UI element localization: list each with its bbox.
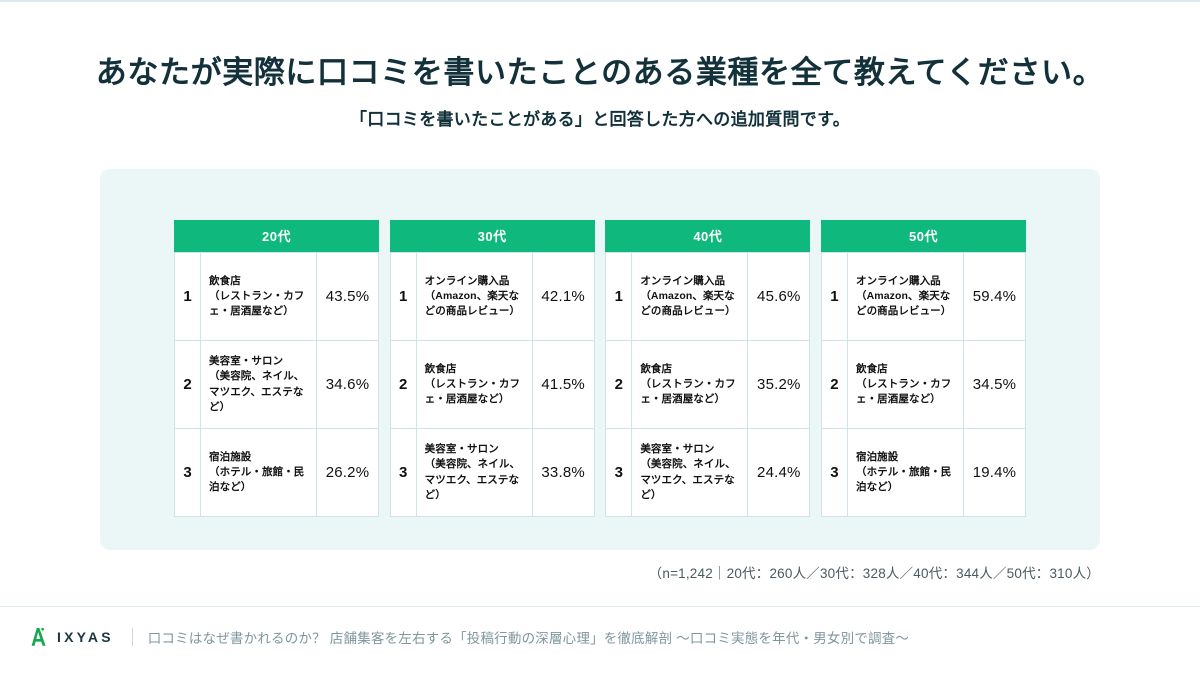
age-group-header: 40代	[605, 220, 810, 252]
age-group-table: 20代1飲食店（レストラン・カフェ・居酒屋など）43.5%2美容室・サロン（美容…	[174, 220, 379, 517]
category-label: 飲食店（レストラン・カフェ・居酒屋など）	[847, 341, 963, 429]
data-panel: 20代1飲食店（レストラン・カフェ・居酒屋など）43.5%2美容室・サロン（美容…	[100, 169, 1100, 550]
table-row: 2飲食店（レストラン・カフェ・居酒屋など）35.2%	[606, 341, 810, 429]
category-label: オンライン購入品（Amazon、楽天などの商品レビュー）	[416, 253, 532, 341]
rank-number: 2	[390, 341, 416, 429]
page-subtitle: 「口コミを書いたことがある」と回答した方への追加質問です。	[0, 105, 1200, 130]
rank-table: 1オンライン購入品（Amazon、楽天などの商品レビュー）59.4%2飲食店（レ…	[821, 252, 1026, 517]
rank-table: 1オンライン購入品（Amazon、楽天などの商品レビュー）42.1%2飲食店（レ…	[390, 252, 595, 517]
sample-size-footnote: （n=1,242｜20代：260人／30代：328人／40代：344人／50代：…	[649, 562, 1100, 582]
table-row: 3宿泊施設（ホテル・旅館・民泊など）19.4%	[821, 429, 1025, 517]
footer: IXYAS 口コミはなぜ書かれるのか？ 店舗集客を左右する「投稿行動の深層心理」…	[28, 626, 909, 648]
table-row: 1オンライン購入品（Amazon、楽天などの商品レビュー）45.6%	[606, 253, 810, 341]
table-row: 3宿泊施設（ホテル・旅館・民泊など）26.2%	[175, 429, 379, 517]
percentage-value: 34.6%	[317, 341, 379, 429]
age-group-table: 50代1オンライン購入品（Amazon、楽天などの商品レビュー）59.4%2飲食…	[821, 220, 1026, 517]
category-label: 宿泊施設（ホテル・旅館・民泊など）	[847, 429, 963, 517]
rank-number: 3	[390, 429, 416, 517]
rank-number: 3	[821, 429, 847, 517]
category-label: 飲食店（レストラン・カフェ・居酒屋など）	[632, 341, 748, 429]
rank-number: 3	[175, 429, 201, 517]
percentage-value: 43.5%	[317, 253, 379, 341]
footer-separator	[132, 628, 133, 646]
rank-number: 2	[821, 341, 847, 429]
rank-number: 1	[821, 253, 847, 341]
ixyas-logo-icon	[28, 626, 50, 648]
percentage-value: 26.2%	[317, 429, 379, 517]
percentage-value: 35.2%	[748, 341, 810, 429]
rank-number: 2	[175, 341, 201, 429]
age-group-header: 50代	[821, 220, 1026, 252]
footer-divider	[0, 606, 1200, 607]
category-label: 美容室・サロン（美容院、ネイル、マツエク、エステなど）	[201, 341, 317, 429]
page-title-block: あなたが実際に口コミを書いたことのある業種を全て教えてください。 「口コミを書い…	[0, 2, 1200, 130]
percentage-value: 41.5%	[532, 341, 594, 429]
percentage-value: 42.1%	[532, 253, 594, 341]
rank-table: 1飲食店（レストラン・カフェ・居酒屋など）43.5%2美容室・サロン（美容院、ネ…	[174, 252, 379, 517]
percentage-value: 34.5%	[963, 341, 1025, 429]
age-group-header: 30代	[390, 220, 595, 252]
percentage-value: 45.6%	[748, 253, 810, 341]
table-row: 1オンライン購入品（Amazon、楽天などの商品レビュー）59.4%	[821, 253, 1025, 341]
rank-number: 1	[390, 253, 416, 341]
category-label: 美容室・サロン（美容院、ネイル、マツエク、エステなど）	[416, 429, 532, 517]
age-group-header: 20代	[174, 220, 379, 252]
rank-number: 3	[606, 429, 632, 517]
rank-number: 1	[175, 253, 201, 341]
percentage-value: 24.4%	[748, 429, 810, 517]
rank-number: 2	[606, 341, 632, 429]
page-title: あなたが実際に口コミを書いたことのある業種を全て教えてください。	[0, 54, 1200, 93]
brand-logo-text: IXYAS	[57, 629, 114, 645]
category-label: 宿泊施設（ホテル・旅館・民泊など）	[201, 429, 317, 517]
category-label: 飲食店（レストラン・カフェ・居酒屋など）	[201, 253, 317, 341]
age-group-table: 30代1オンライン購入品（Amazon、楽天などの商品レビュー）42.1%2飲食…	[390, 220, 595, 517]
table-row: 3美容室・サロン（美容院、ネイル、マツエク、エステなど）24.4%	[606, 429, 810, 517]
rank-table: 1オンライン購入品（Amazon、楽天などの商品レビュー）45.6%2飲食店（レ…	[605, 252, 810, 517]
category-label: オンライン購入品（Amazon、楽天などの商品レビュー）	[632, 253, 748, 341]
table-row: 3美容室・サロン（美容院、ネイル、マツエク、エステなど）33.8%	[390, 429, 594, 517]
age-group-table: 40代1オンライン購入品（Amazon、楽天などの商品レビュー）45.6%2飲食…	[605, 220, 810, 517]
age-tables-row: 20代1飲食店（レストラン・カフェ・居酒屋など）43.5%2美容室・サロン（美容…	[174, 220, 1026, 517]
rank-number: 1	[606, 253, 632, 341]
footer-caption: 口コミはなぜ書かれるのか？ 店舗集客を左右する「投稿行動の深層心理」を徹底解剖 …	[148, 627, 909, 647]
category-label: オンライン購入品（Amazon、楽天などの商品レビュー）	[847, 253, 963, 341]
percentage-value: 19.4%	[963, 429, 1025, 517]
table-row: 2飲食店（レストラン・カフェ・居酒屋など）34.5%	[821, 341, 1025, 429]
brand-logo[interactable]: IXYAS	[28, 626, 114, 648]
table-row: 2美容室・サロン（美容院、ネイル、マツエク、エステなど）34.6%	[175, 341, 379, 429]
percentage-value: 59.4%	[963, 253, 1025, 341]
category-label: 飲食店（レストラン・カフェ・居酒屋など）	[416, 341, 532, 429]
table-row: 2飲食店（レストラン・カフェ・居酒屋など）41.5%	[390, 341, 594, 429]
table-row: 1飲食店（レストラン・カフェ・居酒屋など）43.5%	[175, 253, 379, 341]
percentage-value: 33.8%	[532, 429, 594, 517]
category-label: 美容室・サロン（美容院、ネイル、マツエク、エステなど）	[632, 429, 748, 517]
table-row: 1オンライン購入品（Amazon、楽天などの商品レビュー）42.1%	[390, 253, 594, 341]
